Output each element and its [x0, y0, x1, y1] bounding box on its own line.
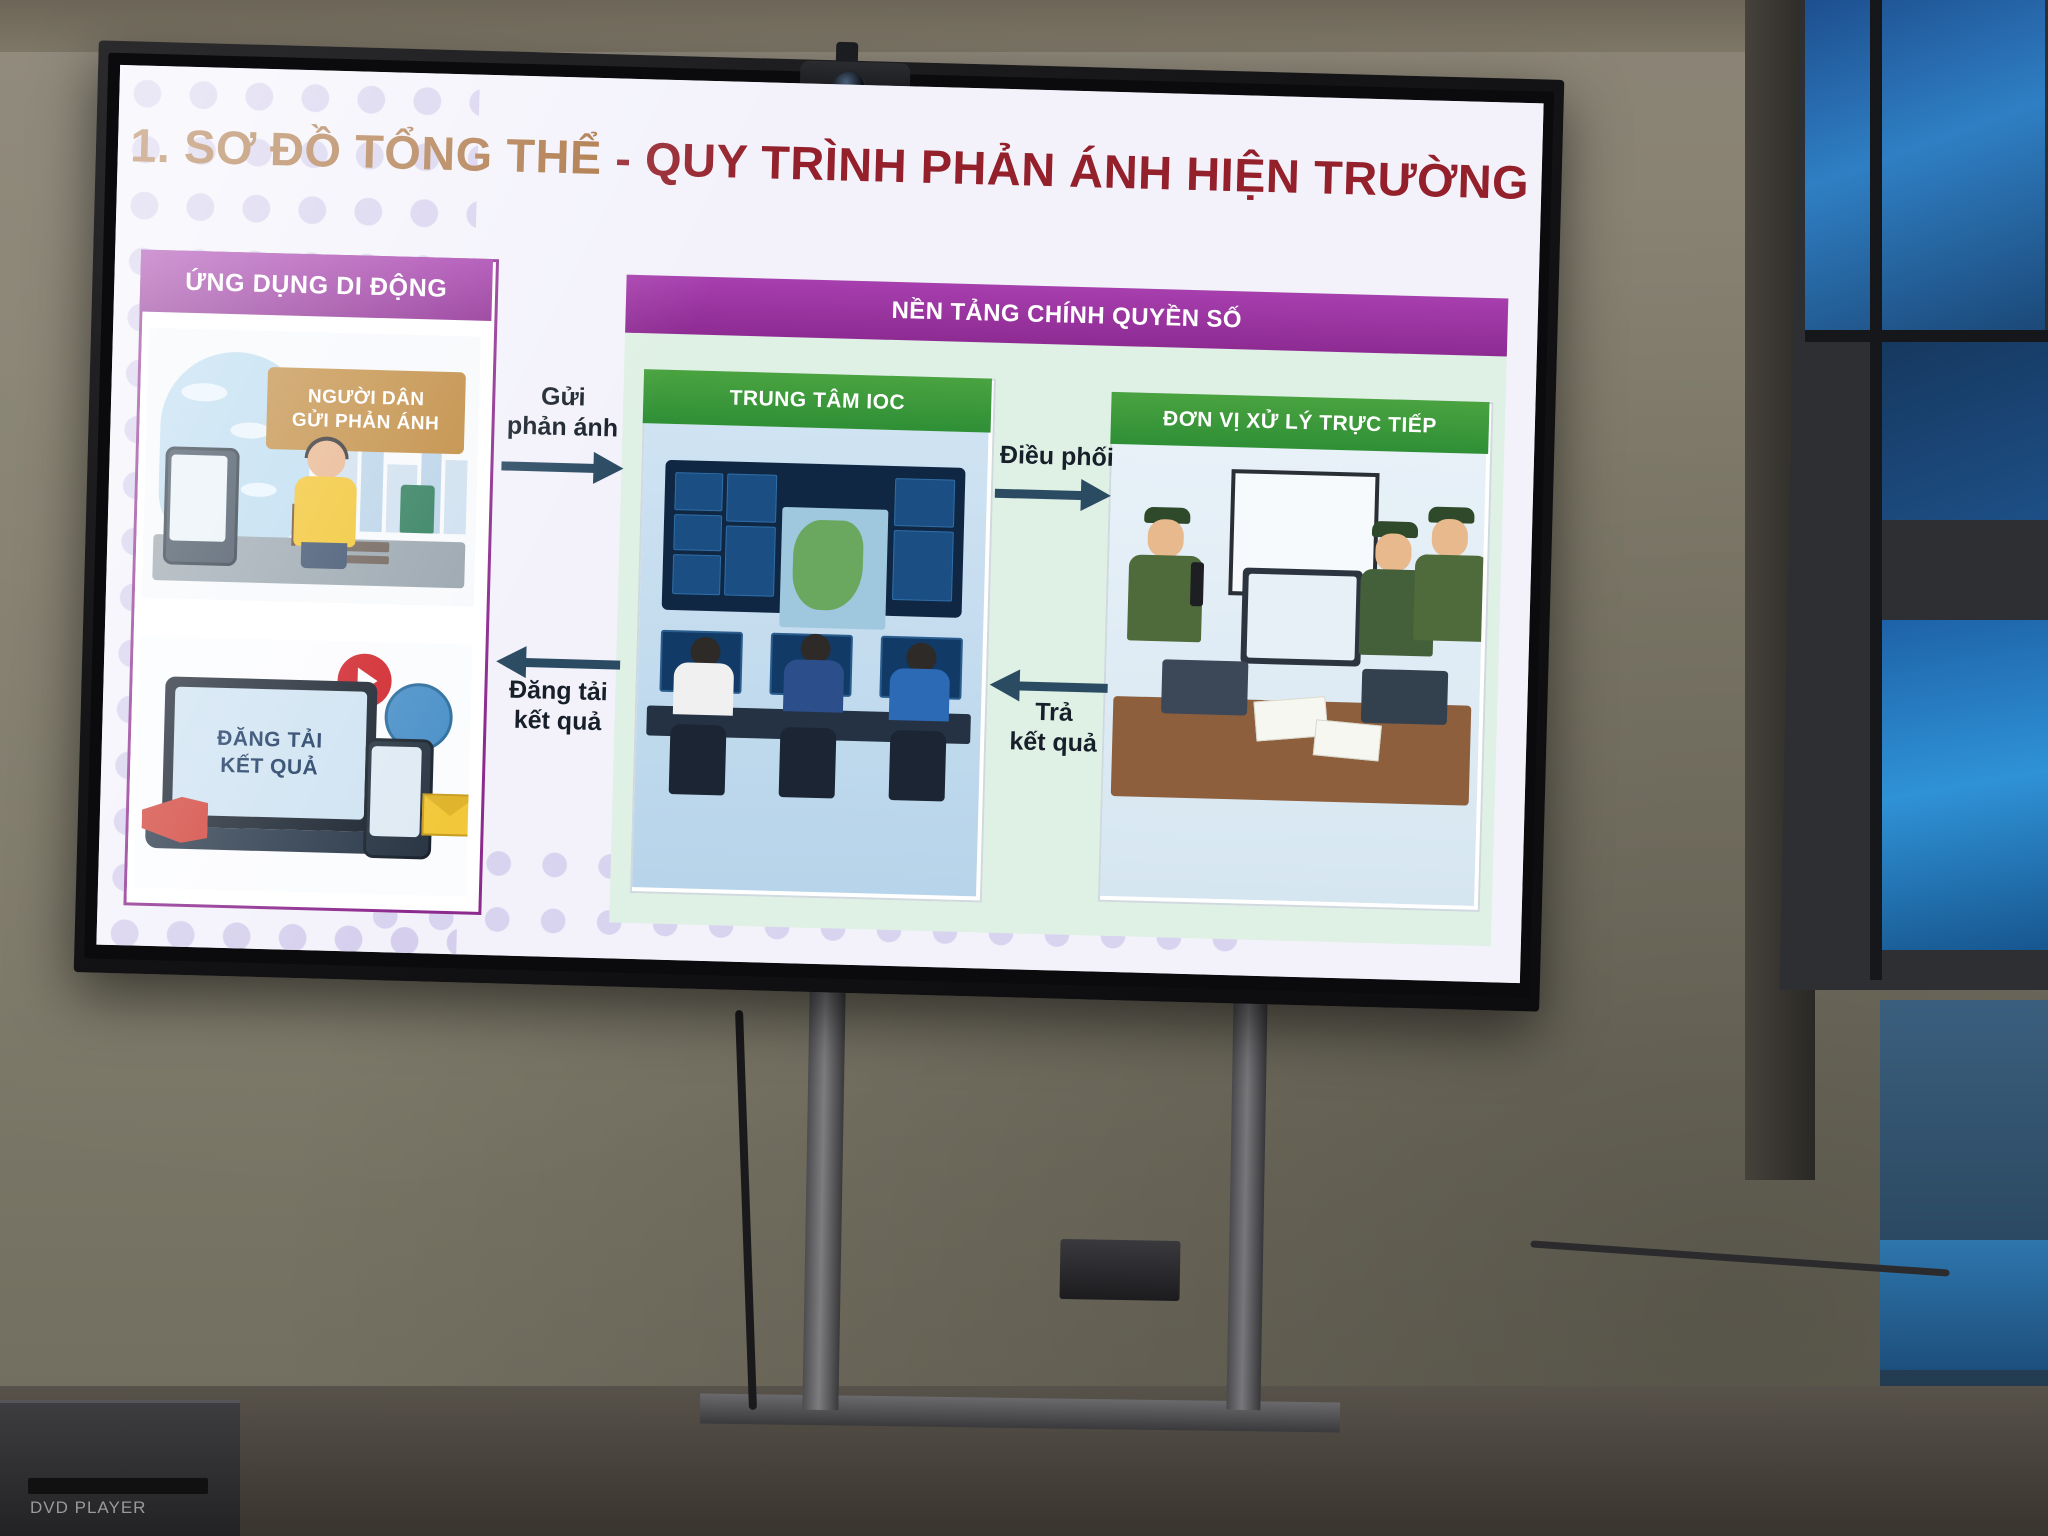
arrow-label-return-result: Trả kết quả [978, 696, 1130, 759]
direct-unit-card-header: ĐƠN VỊ XỬ LÝ TRỰC TIẾP [1110, 392, 1489, 454]
window-pane-top [1805, 0, 2045, 330]
laptop-caption-line1: ĐĂNG TẢI [217, 724, 323, 754]
mobile-app-panel-header-label: ỨNG DỤNG DI ĐỘNG [185, 267, 448, 303]
operator-figure [783, 633, 845, 709]
figure-body [783, 659, 844, 713]
laptop-caption-line2: KẾT QUẢ [220, 752, 319, 782]
av-device-label: DVD PLAYER [30, 1498, 146, 1518]
figure-head [1375, 533, 1412, 572]
direct-unit-card-header-label: ĐƠN VỊ XỬ LÝ TRỰC TIẾP [1163, 407, 1437, 438]
illustration-caption-line1: NGƯỜI DÂN [308, 385, 425, 412]
window-panel-lower-right [1880, 1240, 2048, 1370]
wall-screen [674, 472, 723, 511]
window-pane-mid [1880, 340, 2048, 520]
window-pane-lower [1880, 620, 2048, 950]
laptop-shape [1361, 669, 1448, 725]
arrow-label-line1: Điều phối [982, 440, 1133, 474]
wall-screen [672, 554, 721, 595]
illustration-citizen-report: NGƯỜI DÂN GỬI PHẢN ÁNH [142, 328, 481, 607]
wall-screen [894, 478, 955, 528]
screenshot-root: DVD PLAYER 1. SƠ ĐỒ TỔNG THỂ - QUY TRÌNH… [0, 0, 2048, 1536]
av-device-slot [28, 1478, 208, 1494]
arrow-label-line1: Đăng tải [475, 675, 642, 709]
figure-head [1431, 519, 1468, 558]
illustration-caption-line2: GỬI PHẢN ÁNH [292, 409, 440, 437]
arrow-label-send-report: Gửi phản ánh [482, 381, 644, 444]
office-chair [779, 727, 837, 798]
tv-stand-post-right [1226, 995, 1267, 1411]
smartphone-screen [369, 746, 421, 837]
envelope-icon [421, 793, 472, 836]
direct-unit-card-image [1100, 444, 1486, 906]
ioc-card-header-label: TRUNG TÂM IOC [729, 387, 905, 416]
figure-body [293, 476, 357, 548]
figure-body [1413, 554, 1486, 642]
office-chair [889, 730, 947, 801]
tv-stand-accessory-box [1059, 1239, 1180, 1301]
arrow-head-right-icon [593, 452, 624, 485]
arrow-label-line1: Gửi [483, 381, 644, 415]
arrow-label-line1: Trả [979, 696, 1130, 730]
tv-screen: 1. SƠ ĐỒ TỔNG THỂ - QUY TRÌNH PHẢN ÁNH H… [96, 65, 1543, 983]
wall-screen [724, 525, 776, 596]
wall-screen [726, 473, 777, 522]
trash-bin-icon [400, 485, 435, 534]
ceiling-strip [0, 0, 2048, 52]
paper-document [1313, 719, 1382, 761]
laptop-screen: ĐĂNG TẢI KẾT QUẢ [172, 687, 367, 820]
figure-legs [301, 542, 348, 569]
tv-stand-post-left [802, 990, 845, 1411]
arrow-bar [501, 461, 597, 473]
arrow-publish-result [496, 657, 620, 660]
desktop-monitor-screen [1247, 574, 1357, 661]
platform-panel-header-label: NỀN TẢNG CHÍNH QUYỀN SỐ [891, 297, 1242, 334]
mobile-app-panel-header: ỨNG DỤNG DI ĐỘNG [139, 250, 493, 321]
figure-body [889, 668, 950, 722]
presentation-slide: 1. SƠ ĐỒ TỔNG THỂ - QUY TRÌNH PHẢN ÁNH H… [96, 65, 1543, 983]
video-wall [662, 460, 966, 618]
arrow-label-line2: phản ánh [482, 410, 643, 444]
operator-figure [673, 636, 735, 712]
arrow-head-left-icon [496, 645, 527, 678]
arrow-label-dispatch: Điều phối [982, 440, 1133, 474]
ioc-card-header: TRUNG TÂM IOC [643, 369, 992, 432]
building-shape [444, 460, 468, 535]
arrow-label-publish-result: Đăng tải kết quả [474, 675, 642, 738]
arrow-bar [524, 658, 620, 670]
window-mullion-vertical [1870, 0, 1882, 980]
wall-screen [892, 530, 954, 602]
office-chair [669, 724, 727, 795]
arrow-label-line2: kết quả [474, 704, 641, 738]
figure-head [307, 440, 346, 479]
laptop-shape [1161, 659, 1248, 715]
citizen-figure [291, 440, 360, 568]
phone-screen [169, 454, 227, 541]
wall-screen [673, 514, 722, 551]
figure-body [673, 662, 734, 716]
slide-title-part-red: - QUY TRÌNH PHẢN ÁNH HIỆN TRƯỜNG [615, 131, 1530, 209]
arrow-label-line2: kết quả [978, 726, 1129, 760]
window-mullion-horizontal [1805, 330, 2048, 342]
walkie-talkie-icon [1190, 562, 1204, 606]
figure-head [1147, 519, 1184, 558]
operator-figure [889, 642, 951, 718]
arrow-head-right-icon [1080, 479, 1111, 512]
illustration-publish-result: ĐĂNG TẢI KẾT QUẢ [134, 636, 473, 897]
arrow-send-report [502, 461, 622, 464]
ioc-card-image [632, 423, 988, 896]
